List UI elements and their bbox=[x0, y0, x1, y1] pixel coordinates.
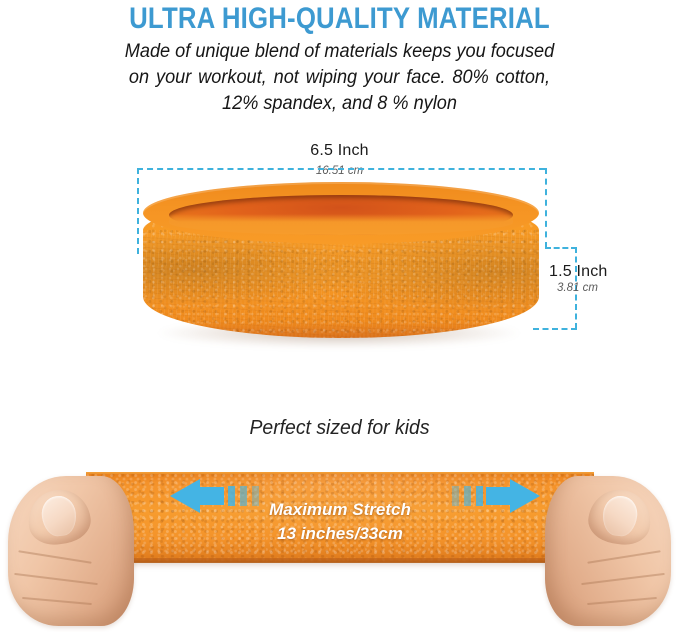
stretch-callout-line-1: Maximum Stretch bbox=[240, 498, 440, 522]
arrow-left-head bbox=[170, 479, 200, 513]
height-dimension-cm: 3.81 cm bbox=[549, 281, 677, 295]
width-dimension-label: 6.5 Inch 16.51 cm bbox=[0, 142, 679, 178]
width-dimension-inch: 6.5 Inch bbox=[0, 142, 679, 160]
guide-line-top bbox=[137, 168, 545, 170]
hand-left bbox=[0, 452, 150, 632]
description-line-3: 12% spandex, and 8 % nylon bbox=[106, 90, 574, 116]
arrow-right-dash-1 bbox=[476, 486, 483, 506]
stretch-callout: Maximum Stretch 13 inches/33cm bbox=[240, 498, 440, 546]
arrow-left-tail bbox=[200, 487, 224, 505]
stretch-demo-image: Maximum Stretch 13 inches/33cm bbox=[0, 452, 679, 632]
height-dimension-inch: 1.5 Inch bbox=[549, 262, 677, 281]
headband-product-image bbox=[131, 178, 551, 360]
height-dimension-label: 1.5 Inch 3.81 cm bbox=[549, 262, 677, 295]
arrow-right-tail bbox=[486, 487, 510, 505]
headband-rim-interior bbox=[169, 195, 513, 235]
width-dimension-cm: 16.51 cm bbox=[312, 165, 367, 177]
strap-bottom-edge bbox=[86, 558, 594, 563]
arrow-left-dash-1 bbox=[228, 486, 235, 506]
arrow-right-dash-2 bbox=[464, 486, 471, 506]
arrow-right-dash-3 bbox=[452, 486, 459, 506]
hand-right bbox=[529, 452, 679, 632]
description-line-2: on your workout, not wiping your face. 8… bbox=[106, 64, 574, 90]
description-line-1: Made of unique blend of materials keeps … bbox=[106, 38, 574, 64]
stretch-callout-line-2: 13 inches/33cm bbox=[240, 522, 440, 546]
headband-rim bbox=[143, 182, 539, 244]
page-title: ULTRA HIGH-QUALITY MATERIAL bbox=[48, 2, 632, 36]
section-caption: Perfect sized for kids bbox=[10, 417, 669, 440]
product-infographic: ULTRA HIGH-QUALITY MATERIAL Made of uniq… bbox=[0, 0, 679, 632]
description-paragraph: Made of unique blend of materials keeps … bbox=[106, 38, 574, 116]
